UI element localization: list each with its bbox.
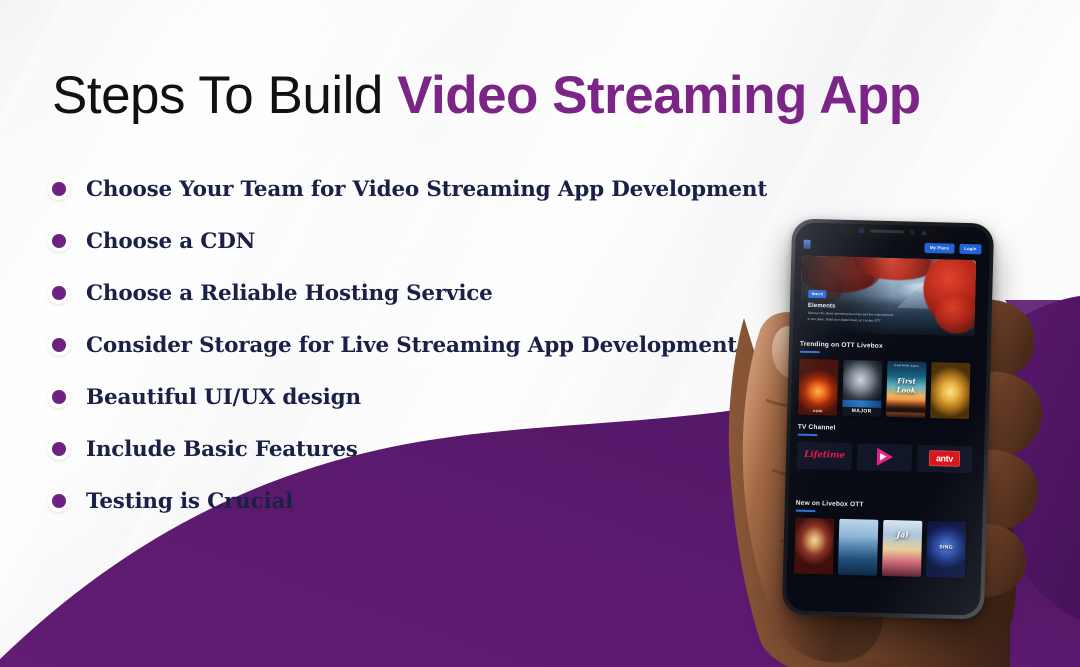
proximity-sensor-icon [921,230,927,235]
poster-caption: SING [927,544,966,551]
poster-card[interactable]: CASTING CALL First Look [886,361,926,418]
poster-art-strip [842,400,881,408]
poster-top-caption: CASTING CALL [887,364,926,368]
section-title: TV Channel [798,424,974,436]
poster-card[interactable]: MAJOR [842,359,882,416]
antv-logo-icon: antv [929,450,960,467]
poster-silhouette [886,400,925,413]
poster-caption: First Look [887,376,926,395]
channel-rail[interactable]: Lifetime antv [797,441,974,473]
poster-rail[interactable]: AGNI MAJOR CASTING CALL First Look [798,358,975,419]
poster-caption [794,571,833,572]
poster-rail[interactable]: Jal SING [794,517,971,578]
poster-caption: Jal [883,529,922,540]
poster-caption: AGNI [798,408,837,413]
poster-caption [838,572,877,573]
channel-tile-antv[interactable]: antv [917,444,973,472]
section-trending: Trending on OTT Livebox AGNI MAJOR CASTI… [798,341,976,419]
hero-banner[interactable]: Watch Elements Discover the latest strea… [800,256,976,337]
section-title: Trending on OTT Livebox [800,341,976,353]
section-tv-channel: TV Channel Lifetime antv [797,424,974,473]
section-title: New on Livebox OTT [796,500,972,512]
section-underline [796,510,816,512]
poster-caption: MAJOR [842,407,881,414]
smartphone-mockup: My Plans Login Watch Elements [782,218,994,619]
section-underline [800,351,820,353]
poster-card[interactable] [838,518,878,575]
lifetime-logo-icon: Lifetime [804,450,845,461]
poster-card[interactable]: SING [926,521,966,578]
poster-card[interactable]: AGNI [798,358,838,415]
hero-badge: Watch [808,290,827,298]
app-logo-icon[interactable] [803,240,810,249]
secondary-camera-icon [910,230,915,235]
login-button[interactable]: Login [959,244,981,255]
section-underline [798,434,818,436]
phone-screen[interactable]: My Plans Login Watch Elements [786,223,990,616]
phone-notch [839,224,947,240]
phone-bezel: My Plans Login Watch Elements [786,223,990,616]
play-logo-icon [876,448,892,466]
hero-text-block: Watch Elements Discover the latest strea… [808,282,919,325]
front-camera-icon [859,228,864,233]
channel-tile-lifetime[interactable]: Lifetime [797,441,853,469]
poster-caption [930,416,969,417]
app-top-bar: My Plans Login [795,237,989,258]
my-plans-button[interactable]: My Plans [925,243,955,254]
channel-tile-play[interactable] [857,443,913,471]
poster-card[interactable] [794,517,834,574]
poster-card[interactable] [930,362,970,419]
section-new-on-livebox: New on Livebox OTT Jal SING [794,500,972,578]
poster-card[interactable]: Jal [882,520,922,577]
earpiece-speaker-icon [870,230,904,233]
